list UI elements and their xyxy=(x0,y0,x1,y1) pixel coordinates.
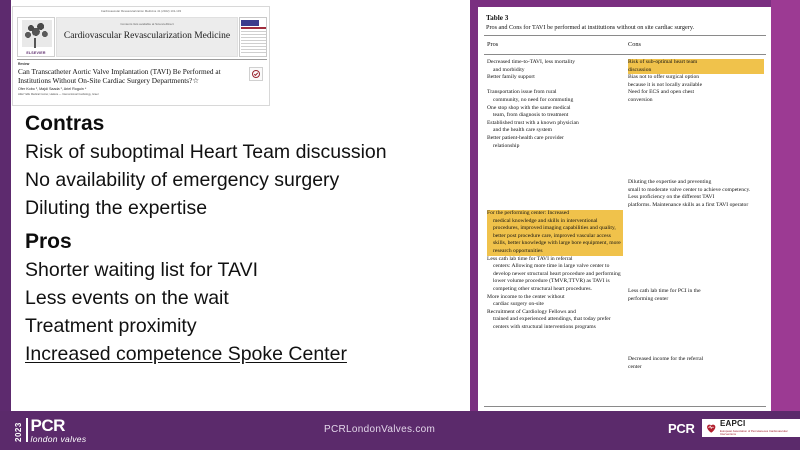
pros-item-1: Shorter waiting list for TAVI xyxy=(25,256,455,284)
pros-item-2: Less events on the wait xyxy=(25,284,455,312)
article-title: Can Transcatheter Aortic Valve Implantat… xyxy=(18,68,223,85)
article-section-label: Review xyxy=(18,62,29,66)
table-column-pros: Decreased time-to-TAVI, less mortality a… xyxy=(487,59,623,150)
cons-cell-3: Need for ECS and open chest conversion xyxy=(628,89,764,104)
cover-accent-bar xyxy=(241,27,266,29)
elsevier-wordmark: ELSEVIER xyxy=(18,51,54,55)
pros-cell-5-text: Established trust with a known physician xyxy=(487,120,579,126)
table-header-pros: Pros xyxy=(487,41,498,48)
pros-cell-5: Established trust with a known physician… xyxy=(487,120,623,135)
contras-item-2: No availability of emergency surgery xyxy=(25,166,455,194)
logo-pcr-wordmark: PCR xyxy=(31,418,87,434)
section-heading-pros: Pros xyxy=(25,228,455,255)
article-journal-header: ELSEVIER Contents lists available at Sci… xyxy=(17,17,267,57)
cons-cell-7-text: Decreased income for the referral xyxy=(628,356,703,362)
partner-pcr-logo: PCR xyxy=(668,421,695,436)
article-affiliation: Hillel Yaffe Medical Center, Hadera — In… xyxy=(18,93,233,96)
journal-cover-thumbnail xyxy=(239,17,267,57)
table-rule-bottom xyxy=(484,406,766,407)
pros-cell-10-cont: trained and experienced attendings, that… xyxy=(487,316,623,331)
pros-cell-6: Better patient-health care provider rela… xyxy=(487,135,623,150)
cons-cell-1-highlighted: Risk of sub-optimal heart team discussio… xyxy=(628,59,764,74)
pros-cell-8-cont: centers: Allowing more time in large val… xyxy=(487,263,623,293)
main-content-list: Contras Risk of suboptimal Heart Team di… xyxy=(25,110,455,368)
purple-middle-strip xyxy=(470,0,478,411)
pros-cell-3: Transportation issue from rural communit… xyxy=(487,89,623,104)
section-contras: Contras Risk of suboptimal Heart Team di… xyxy=(25,110,455,222)
cons-cell-5-text: Less proficiency on the different TAVI xyxy=(628,194,714,200)
table-header-cons: Cons xyxy=(628,41,641,48)
article-divider xyxy=(17,59,267,60)
pros-cell-1-text: Decreased time-to-TAVI, less mortality xyxy=(487,59,575,65)
pros-cell-3-cont: community, no need for commuting xyxy=(487,97,623,105)
table-column-cons: Risk of sub-optimal heart team discussio… xyxy=(628,59,764,105)
pros-cell-9: More income to the center without cardia… xyxy=(487,294,623,309)
pros-cell-2: Better family support xyxy=(487,74,623,82)
eapci-wordmark: EAPCI xyxy=(720,420,795,428)
cons-cell-4-text: Diluting the expertise and preventing xyxy=(628,179,711,185)
pros-cell-3-text: Transportation issue from rural xyxy=(487,89,557,95)
pros-item-4: Increased competence Spoke Center xyxy=(25,340,455,368)
logo-london-valves: london valves xyxy=(31,434,87,444)
cons-cell-2: Bias not to offer surgical option becaus… xyxy=(628,74,764,89)
cons-cell-4: Diluting the expertise and preventing sm… xyxy=(628,179,764,194)
pros-cell-4-cont: team, from diagnosis to treatment xyxy=(487,112,623,120)
pros-cell-4-text: One stop shop with the same medical xyxy=(487,105,571,111)
cons-cell-5-cont: platforms. Maintenance skills as a first… xyxy=(628,202,764,210)
cons-cell-6-cont: performing center xyxy=(628,296,764,304)
elsevier-tree-icon xyxy=(22,20,52,47)
cover-title-block xyxy=(241,20,259,26)
table-column-cons-lower: Diluting the expertise and preventing sm… xyxy=(628,179,764,209)
contras-item-1: Risk of suboptimal Heart Team discussion xyxy=(25,138,455,166)
pros-cell-6-cont: relationship xyxy=(487,143,623,151)
footer-partner-logos: PCR EAPCI European Association of Percut… xyxy=(668,419,800,437)
section-heading-contras: Contras xyxy=(25,110,455,137)
pros-item-3: Treatment proximity xyxy=(25,312,455,340)
pros-cell-6-text: Better patient-health care provider xyxy=(487,135,564,141)
table-rule-header xyxy=(484,54,766,55)
pros-cell-9-cont: cardiac surgery on-site xyxy=(487,301,623,309)
journal-banner: Contents lists available at ScienceDirec… xyxy=(56,17,238,57)
table-number: Table 3 xyxy=(486,14,508,22)
eapci-subtitle: European Association of Percutaneous Car… xyxy=(720,430,795,436)
cons-cell-5: Less proficiency on the different TAVI p… xyxy=(628,194,764,209)
table-column-cons-row3: Less cath lab time for PCI in the perfor… xyxy=(628,288,764,303)
section-pros: Pros Shorter waiting list for TAVI Less … xyxy=(25,228,455,368)
pros-cell-8-text: Less cath lab time for TAVI in referral xyxy=(487,256,573,262)
pcr-london-valves-logo: 2023 PCR london valves xyxy=(14,418,86,444)
pros-cell-8: Less cath lab time for TAVI in referral … xyxy=(487,256,623,294)
cons-cell-1-text: Risk of sub-optimal heart team xyxy=(628,59,697,65)
slide-canvas: Cardiovascular Revascularization Medicin… xyxy=(0,0,800,450)
cons-cell-7: Decreased income for the referral center xyxy=(628,356,764,371)
contras-item-3: Diluting the expertise xyxy=(25,194,455,222)
table-caption: Pros and Cons for TAVI be performed at i… xyxy=(486,24,766,31)
journal-title: Cardiovascular Revascularization Medicin… xyxy=(57,31,237,41)
pros-cell-7-cont: medical knowledge and skills in interven… xyxy=(487,218,623,256)
article-running-head: Cardiovascular Revascularization Medicin… xyxy=(13,10,269,13)
cons-cell-6-text: Less cath lab time for PCI in the xyxy=(628,288,701,294)
elsevier-trunk-icon xyxy=(34,38,36,48)
pros-cell-10: Recruitment of Cardiology Fellows and tr… xyxy=(487,309,623,332)
pros-cell-4: One stop shop with the same medical team… xyxy=(487,105,623,120)
sciencedirect-line: Contents lists available at ScienceDirec… xyxy=(57,22,237,26)
pros-cell-7-highlighted: For the performing center: Increased med… xyxy=(487,210,623,256)
crossmark-icon xyxy=(249,67,263,81)
pros-cell-2-text: Better family support xyxy=(487,74,535,80)
article-authors: Ofer Kobo ¹, Majdi Saada ¹, Ariel Roguin… xyxy=(18,87,233,91)
article-thumbnail: Cardiovascular Revascularization Medicin… xyxy=(12,6,270,106)
pros-cell-1: Decreased time-to-TAVI, less mortality a… xyxy=(487,59,623,74)
table-rule-top xyxy=(484,35,766,36)
table-column-pros-lower: For the performing center: Increased med… xyxy=(487,210,623,332)
heart-icon xyxy=(705,421,717,435)
logo-year: 2023 xyxy=(14,418,24,442)
table-column-cons-row4: Decreased income for the referral center xyxy=(628,356,764,371)
footer-url[interactable]: PCRLondonValves.com xyxy=(324,424,435,435)
pros-cell-9-text: More income to the center without xyxy=(487,294,565,300)
cons-cell-2-text: Bias not to offer surgical option xyxy=(628,74,699,80)
pros-cell-7-text: For the performing center: Increased xyxy=(487,210,569,216)
pros-cell-5-cont: and the health care system xyxy=(487,127,623,135)
cons-cell-3-cont: conversion xyxy=(628,97,764,105)
purple-right-border xyxy=(771,0,800,411)
cons-cell-3-text: Need for ECS and open chest xyxy=(628,89,694,95)
logo-divider xyxy=(26,418,28,442)
table-3-panel: Table 3 Pros and Cons for TAVI be perfor… xyxy=(478,7,771,411)
cons-cell-7-cont: center xyxy=(628,364,764,372)
elsevier-logo: ELSEVIER xyxy=(17,17,55,57)
purple-left-border xyxy=(0,0,11,411)
pros-cell-10-text: Recruitment of Cardiology Fellows and xyxy=(487,309,576,315)
cons-cell-6: Less cath lab time for PCI in the perfor… xyxy=(628,288,764,303)
partner-eapci-logo: EAPCI European Association of Percutaneo… xyxy=(702,419,800,437)
purple-top-border xyxy=(470,0,800,7)
